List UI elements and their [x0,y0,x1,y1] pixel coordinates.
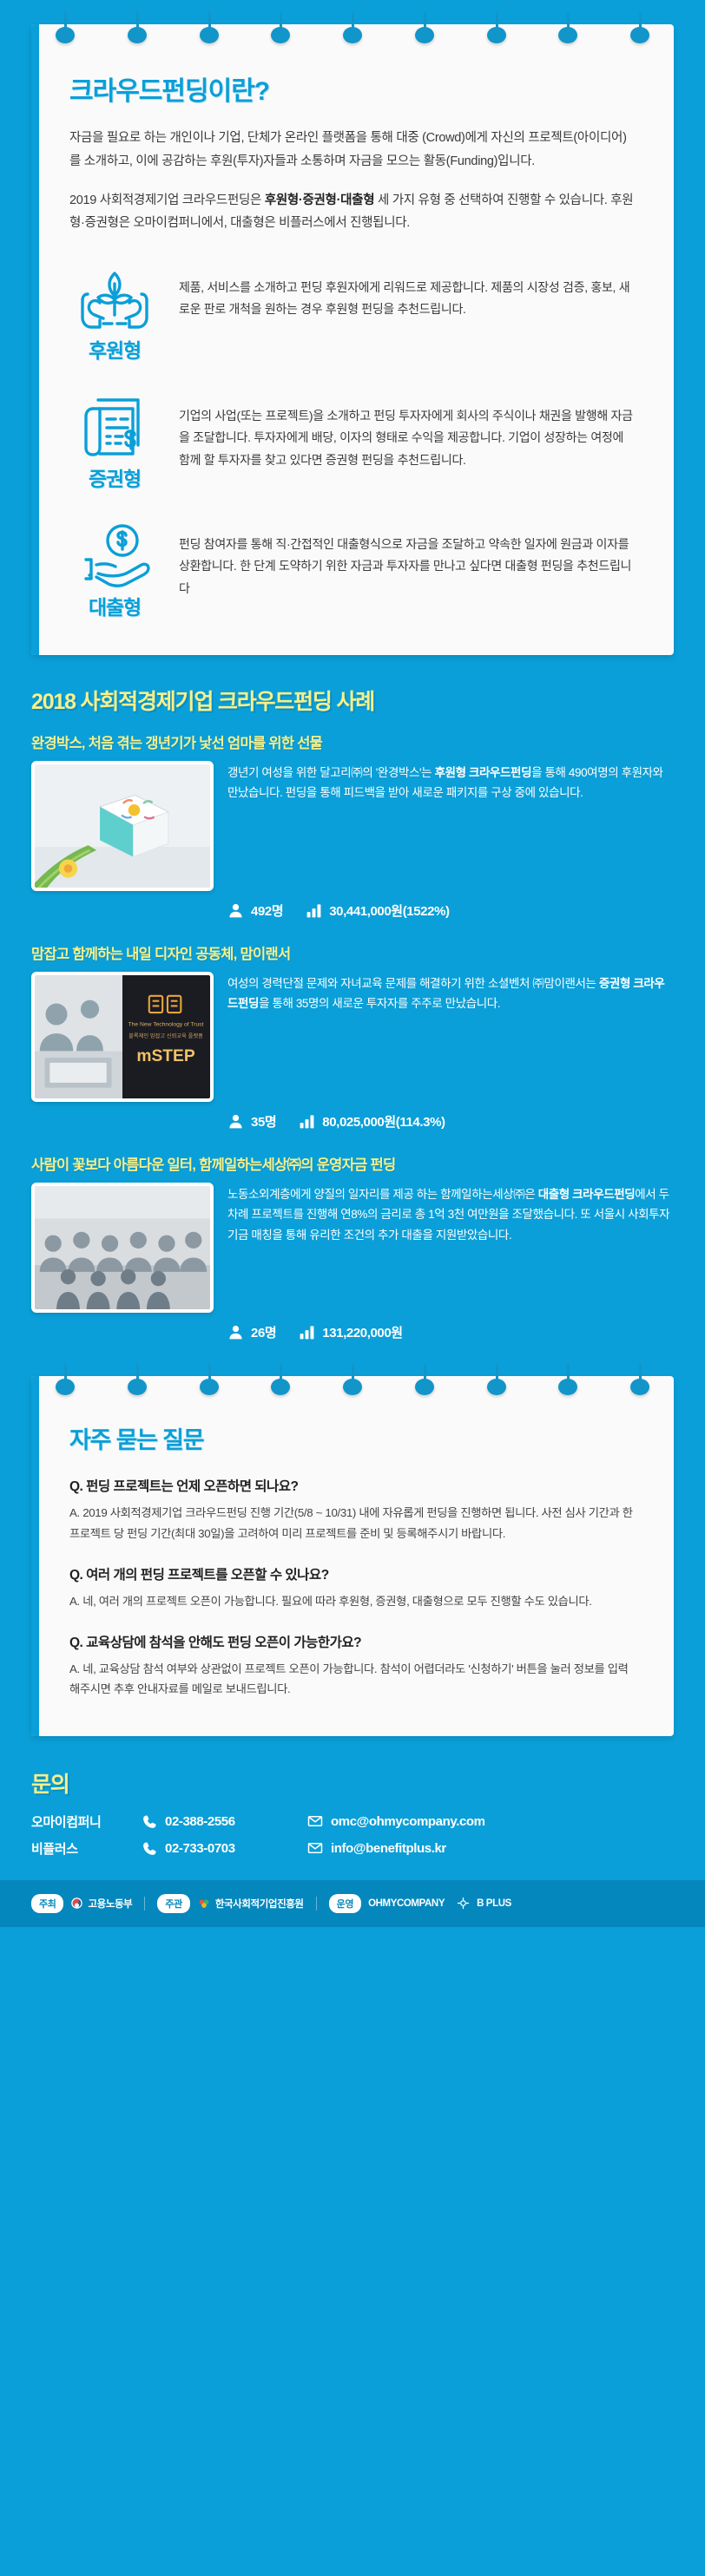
stat-supporters-value: 492명 [251,901,283,920]
funding-type-equity: 증권형 기업의 사업(또는 프로젝트)을 소개하고 펀딩 투자자에게 회사의 주… [69,393,637,492]
faq-item: Q. 여러 개의 펀딩 프로젝트를 오픈할 수 있나요? A. 네, 여러 개의… [69,1564,637,1611]
type-desc-equity: 기업의 사업(또는 프로젝트)을 소개하고 펀딩 투자자에게 회사의 주식이나 … [179,393,637,471]
contact-phone[interactable]: 02-388-2556 [142,1814,307,1829]
funding-type-list: 후원형 제품, 서비스를 소개하고 펀딩 후원자에게 리워드로 제공합니다. 제… [69,265,637,620]
type-desc-reward: 제품, 서비스를 소개하고 펀딩 후원자에게 리워드로 제공합니다. 제품의 시… [179,265,637,320]
contact-phone-value: 02-388-2556 [165,1814,235,1829]
cases-section-title: 2018 사회적경제기업 크라우드펀딩 사례 [31,685,674,716]
stat-amount: 30,441,000원(1522%) [306,901,449,920]
footer-org-label: 한국사회적기업진흥원 [215,1897,304,1911]
hand-coin-icon [77,521,152,589]
footer-org: B PLUS [477,1898,511,1909]
hands-plant-icon [77,265,152,332]
contact-org-name: 비플러스 [31,1839,142,1858]
case-description: 노동소외계층에게 양질의 일자리를 제공 하는 함께일하는세상㈜은 대출형 크라… [227,1183,674,1245]
case-photo [31,1183,214,1313]
case-title: 완경박스, 처음 겪는 갱년기가 낯선 엄마를 위한 선물 [31,731,674,752]
person-icon [227,1113,244,1130]
stat-amount-value: 131,220,000원 [322,1323,402,1341]
funding-type-loan: 대출형 펀딩 참여자를 통해 직·간접적인 대출형식으로 자금을 조달하고 약속… [69,521,637,620]
document-dollar-icon [77,393,152,461]
footer-org: 고용노동부 [70,1897,132,1911]
case-description: 갱년기 여성을 위한 달고리㈜의 '완경박스'는 후원형 크라우드펀딩을 통해 … [227,761,674,803]
faq-item: Q. 교육상담에 참석을 안해도 펀딩 오픈이 가능한가요? A. 네, 교육상… [69,1632,637,1700]
footer-tag: 주최 [31,1894,63,1913]
intro-heading: 크라우드펀딩이란? [69,69,637,108]
contact-email[interactable]: omc@ohmycompany.com [307,1813,485,1829]
footer-group-host: 주최 고용노동부 [31,1894,132,1913]
contact-section: 문의 오마이컴퍼니 02-388-2556 omc@ohmycompany.co… [31,1767,674,1858]
footer-group-organizer: 주관 한국사회적기업진흥원 [157,1894,303,1913]
faq-question: Q. 펀딩 프로젝트는 언제 오픈하면 되나요? [69,1476,637,1495]
footer-org-label: 고용노동부 [88,1897,132,1911]
mstep-platform-photo: The New Technology of Trust 블록체인 맘잡고 신뢰교… [35,975,210,1098]
phone-icon [142,1841,157,1856]
stat-supporters: 492명 [227,901,283,920]
case-title: 맘잡고 함께하는 내일 디자인 공동체, 맘이랜서 [31,942,674,963]
bar-chart-icon [299,1113,315,1130]
faq-question: Q. 교육상담에 참석을 안해도 펀딩 오픈이 가능한가요? [69,1632,637,1651]
faq-question: Q. 여러 개의 펀딩 프로젝트를 오픈할 수 있나요? [69,1564,637,1583]
case-study-item: 맘잡고 함께하는 내일 디자인 공동체, 맘이랜서 The New Techno… [31,942,674,1131]
type-icon-container: 후원형 [69,265,160,364]
envelope-icon [307,1840,323,1856]
footer-tag: 운영 [329,1894,361,1913]
faq-item: Q. 펀딩 프로젝트는 언제 오픈하면 되나요? A. 2019 사회적경제기업… [69,1476,637,1544]
faq-title: 자주 묻는 질문 [69,1421,637,1455]
svg-text:블록체인 맘잡고 신뢰교육 플랫폼: 블록체인 맘잡고 신뢰교육 플랫폼 [128,1032,203,1039]
stat-amount-value: 30,441,000원(1522%) [329,901,449,920]
faq-answer: A. 네, 여러 개의 프로젝트 오픈이 가능합니다. 필요에 따라 후원형, … [69,1591,637,1611]
footer-divider [144,1897,145,1911]
contact-org-name: 오마이컴퍼니 [31,1812,142,1831]
stat-amount: 80,025,000원(114.3%) [299,1112,445,1131]
footer-group-operator: 운영 OHMYCOMPANY [329,1894,445,1913]
envelope-icon [307,1813,323,1829]
faq-card: 자주 묻는 질문 Q. 펀딩 프로젝트는 언제 오픈하면 되나요? A. 201… [31,1376,674,1735]
phone-icon [142,1814,157,1829]
person-icon [227,902,244,919]
bplus-mark-icon [457,1897,470,1910]
group-photo [35,1186,210,1309]
footer-tag: 주관 [157,1894,189,1913]
contact-email[interactable]: info@benefitplus.kr [307,1840,446,1856]
svg-text:mSTEP: mSTEP [136,1047,194,1065]
person-icon [227,1324,244,1340]
kosea-logo-icon [197,1897,211,1910]
wangyeong-box-photo [35,764,210,888]
footer-group-bplus: B PLUS [457,1897,511,1910]
footer-org-label: B PLUS [477,1898,511,1909]
footer-org-label: OHMYCOMPANY [368,1898,445,1909]
type-label-equity: 증권형 [69,462,160,492]
stat-amount: 131,220,000원 [299,1323,402,1341]
intro-card: 크라우드펀딩이란? 자금을 필요로 하는 개인이나 기업, 단체가 온라인 플랫… [31,24,674,655]
contact-phone-value: 02-733-0703 [165,1841,235,1856]
contact-email-value: omc@ohmycompany.com [331,1814,485,1829]
case-description: 여성의 경력단절 문제와 자녀교육 문제를 해결하기 위한 소셜벤처 ㈜맘이랜서… [227,972,674,1013]
case-stats: 492명 30,441,000원(1522%) [31,901,674,920]
stat-supporters-value: 26명 [251,1323,276,1341]
case-study-item: 완경박스, 처음 겪는 갱년기가 낯선 엄마를 위한 선물 [31,731,674,920]
infographic-page: 크라우드펀딩이란? 자금을 필요로 하는 개인이나 기업, 단체가 온라인 플랫… [0,24,705,1927]
government-emblem-icon [70,1897,83,1910]
footer-org: OHMYCOMPANY [368,1898,445,1909]
contact-phone[interactable]: 02-733-0703 [142,1841,307,1856]
footer-divider [316,1897,317,1911]
bar-chart-icon [299,1324,315,1340]
intro-paragraph-1: 자금을 필요로 하는 개인이나 기업, 단체가 온라인 플랫폼을 통해 대중 (… [69,127,637,174]
case-stats: 35명 80,025,000원(114.3%) [31,1112,674,1131]
type-desc-loan: 펀딩 참여자를 통해 직·간접적인 대출형식으로 자금을 조달하고 약속한 일자… [179,521,637,600]
case-study-item: 사람이 꽃보다 아름다운 일터, 함께일하는세상㈜의 운영자금 펀딩 [31,1153,674,1341]
type-label-reward: 후원형 [69,334,160,364]
contact-row: 비플러스 02-733-0703 info@benefitplus.kr [31,1839,674,1858]
type-label-loan: 대출형 [69,591,160,620]
intro-paragraph-2: 2019 사회적경제기업 크라우드펀딩은 후원형·증권형·대출형 세 가지 유형… [69,189,637,236]
contact-email-value: info@benefitplus.kr [331,1841,446,1856]
case-title: 사람이 꽃보다 아름다운 일터, 함께일하는세상㈜의 운영자금 펀딩 [31,1153,674,1174]
footer-bar: 주최 고용노동부 주관 한국사회적기업진흥원 [0,1880,705,1927]
faq-answer: A. 네, 교육상담 참석 여부와 상관없이 프로젝트 오픈이 가능합니다. 참… [69,1659,637,1700]
type-icon-container: 대출형 [69,521,160,620]
stat-supporters: 26명 [227,1323,276,1341]
stat-supporters-value: 35명 [251,1112,276,1131]
funding-type-reward: 후원형 제품, 서비스를 소개하고 펀딩 후원자에게 리워드로 제공합니다. 제… [69,265,637,364]
type-icon-container: 증권형 [69,393,160,492]
case-photo [31,761,214,891]
case-photo: The New Technology of Trust 블록체인 맘잡고 신뢰교… [31,972,214,1102]
contact-row: 오마이컴퍼니 02-388-2556 omc@ohmycompany.com [31,1812,674,1831]
svg-text:The New Technology of Trust: The New Technology of Trust [128,1022,204,1028]
faq-answer: A. 2019 사회적경제기업 크라우드펀딩 진행 기간(5/8 ~ 10/31… [69,1503,637,1544]
footer-org: 한국사회적기업진흥원 [197,1897,304,1911]
bar-chart-icon [306,902,322,919]
contact-title: 문의 [31,1767,674,1799]
stat-supporters: 35명 [227,1112,276,1131]
stat-amount-value: 80,025,000원(114.3%) [322,1112,445,1131]
case-stats: 26명 131,220,000원 [31,1323,674,1341]
